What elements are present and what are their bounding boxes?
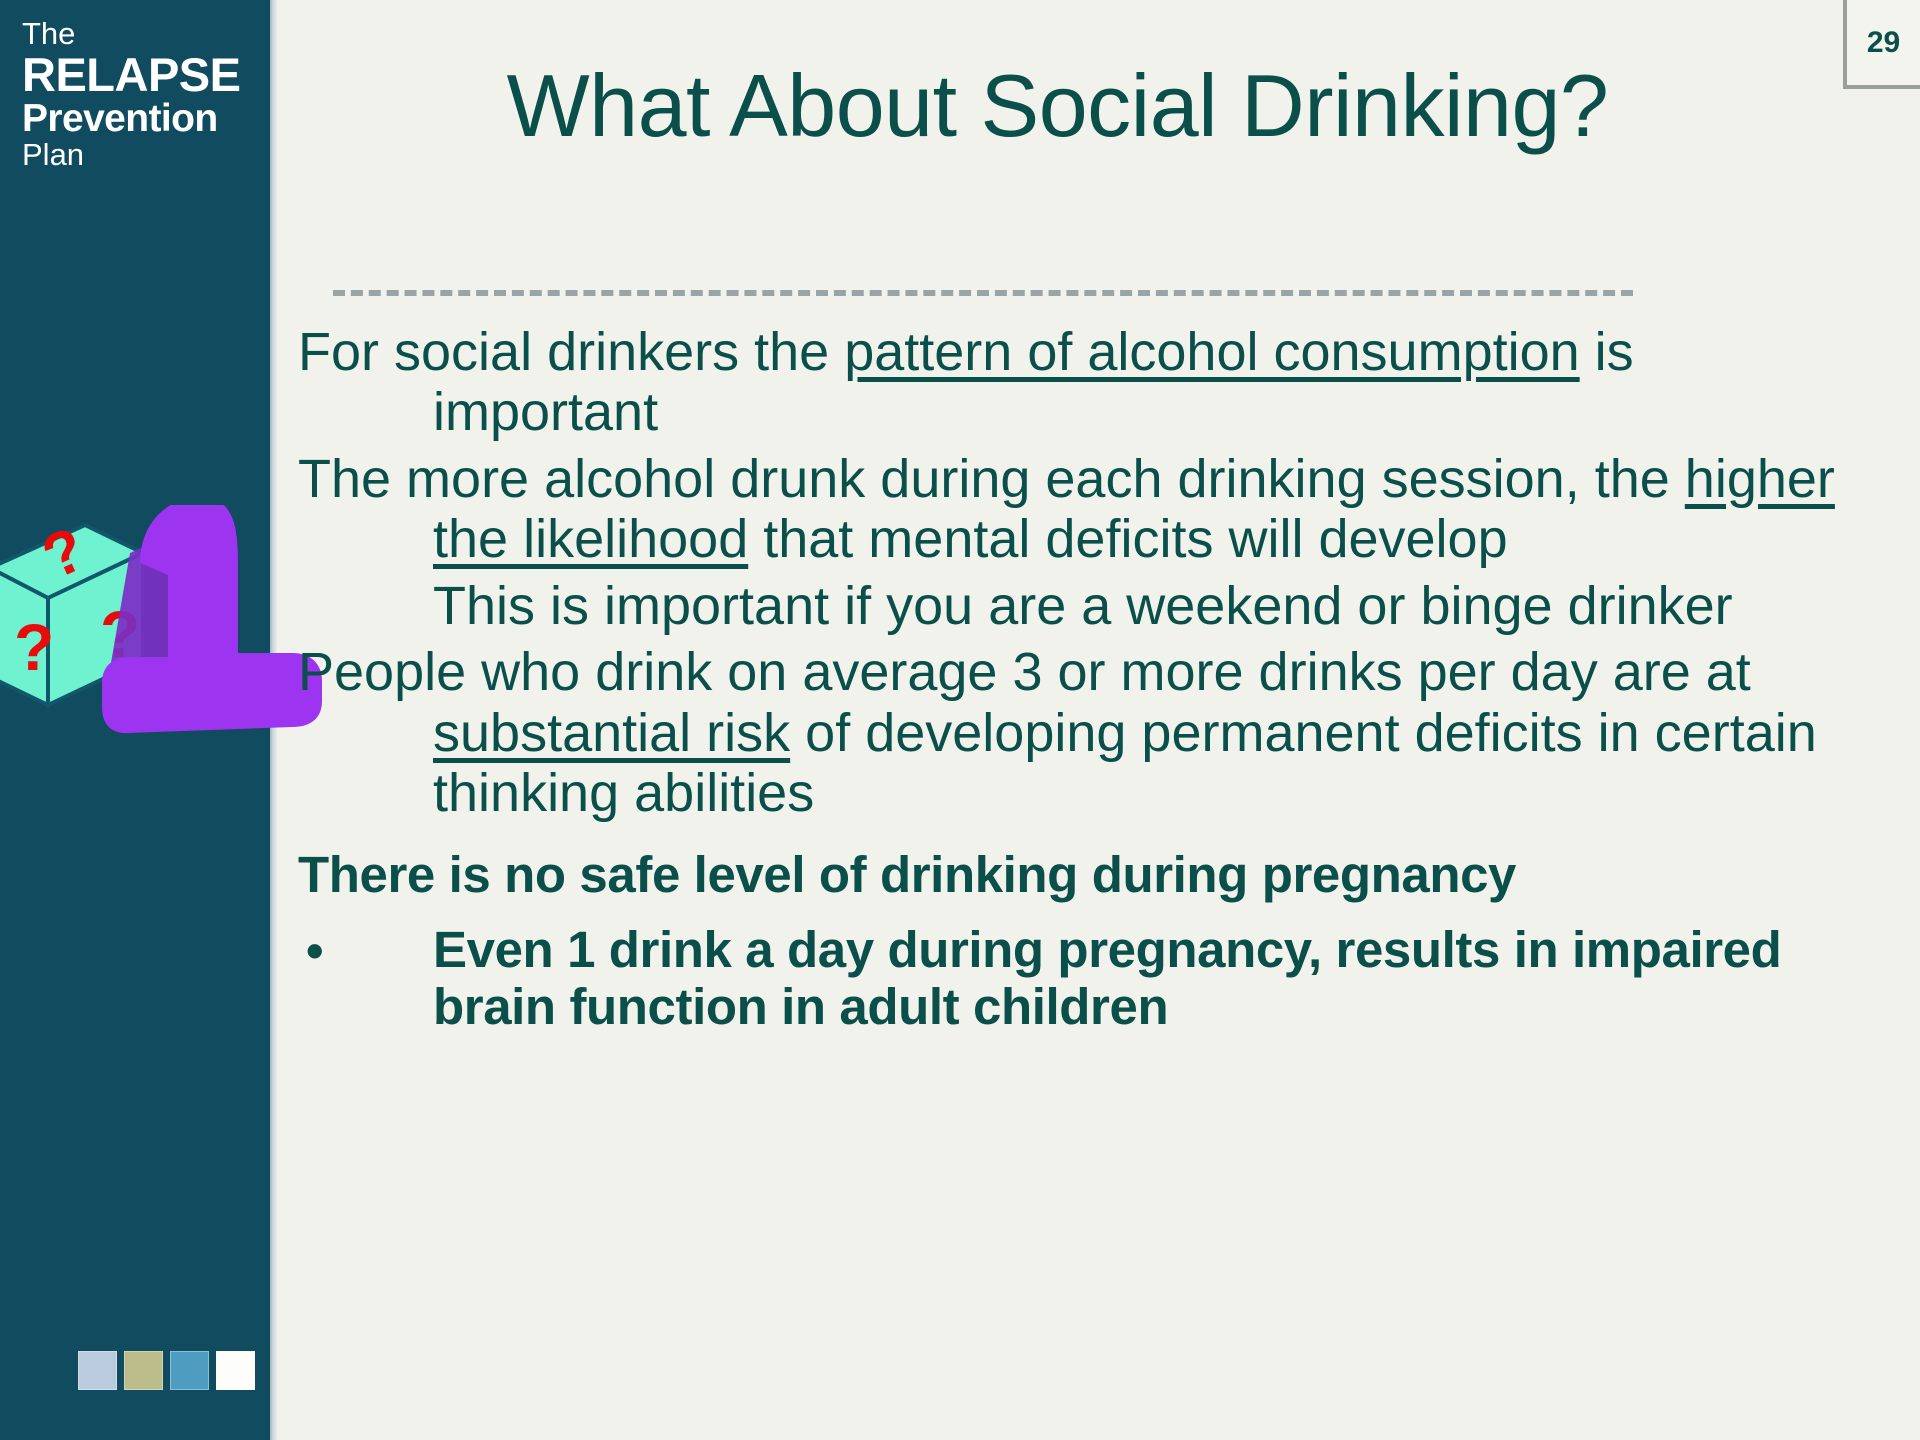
bullet-4-text-pre: People who drink on average 3 or more dr… (298, 642, 1751, 702)
color-swatch-row (78, 1351, 255, 1390)
page-number: 29 (1867, 26, 1900, 60)
swatch-steel-blue (170, 1351, 209, 1390)
bullet-2-text-pre: The more alcohol drunk during each drink… (298, 449, 1685, 509)
bullet-1: For social drinkers the pattern of alcoh… (298, 322, 1858, 443)
bullet-1-underlined: pattern of alcohol consumption (844, 322, 1579, 382)
bullet-1-text-pre: For social drinkers the (298, 322, 844, 382)
swatch-light-blue (78, 1351, 117, 1390)
bullet-3: This is important if you are a weekend o… (298, 576, 1858, 636)
slide-canvas: The RELAPSE Prevention Plan ? ? ? (0, 0, 1920, 1440)
bullet-2-text-post: that mental deficits will develop (748, 509, 1507, 569)
logo-line-prevention: Prevention (22, 99, 252, 138)
bullet-3-text: This is important if you are a weekend o… (433, 576, 1733, 636)
bullet-6-text: Even 1 drink a day during pregnancy, res… (433, 921, 1781, 1035)
slide-body: For social drinkers the pattern of alcoh… (298, 322, 1858, 1041)
logo-line-plan: Plan (22, 139, 252, 170)
slide-title: What About Social Drinking? (285, 60, 1830, 152)
bullet-marker-icon: • (306, 923, 323, 979)
bullet-2: The more alcohol drunk during each drink… (298, 449, 1858, 570)
swatch-white (216, 1351, 255, 1390)
title-divider (333, 290, 1633, 296)
logo-line-relapse: RELAPSE (22, 51, 252, 98)
mystery-cube-graphic: ? ? ? (0, 505, 330, 795)
swatch-olive (124, 1351, 163, 1390)
page-number-box: 29 (1843, 0, 1920, 89)
bullet-4: People who drink on average 3 or more dr… (298, 642, 1858, 823)
logo-line-the: The (22, 18, 252, 49)
bullet-5: There is no safe level of drinking durin… (298, 846, 1858, 903)
bullet-5-text: There is no safe level of drinking durin… (298, 846, 1516, 903)
svg-text:?: ? (14, 610, 54, 684)
bullet-6: •Even 1 drink a day during pregnancy, re… (298, 921, 1858, 1035)
bullet-4-underlined: substantial risk (433, 703, 790, 763)
brand-logo: The RELAPSE Prevention Plan (22, 18, 252, 170)
